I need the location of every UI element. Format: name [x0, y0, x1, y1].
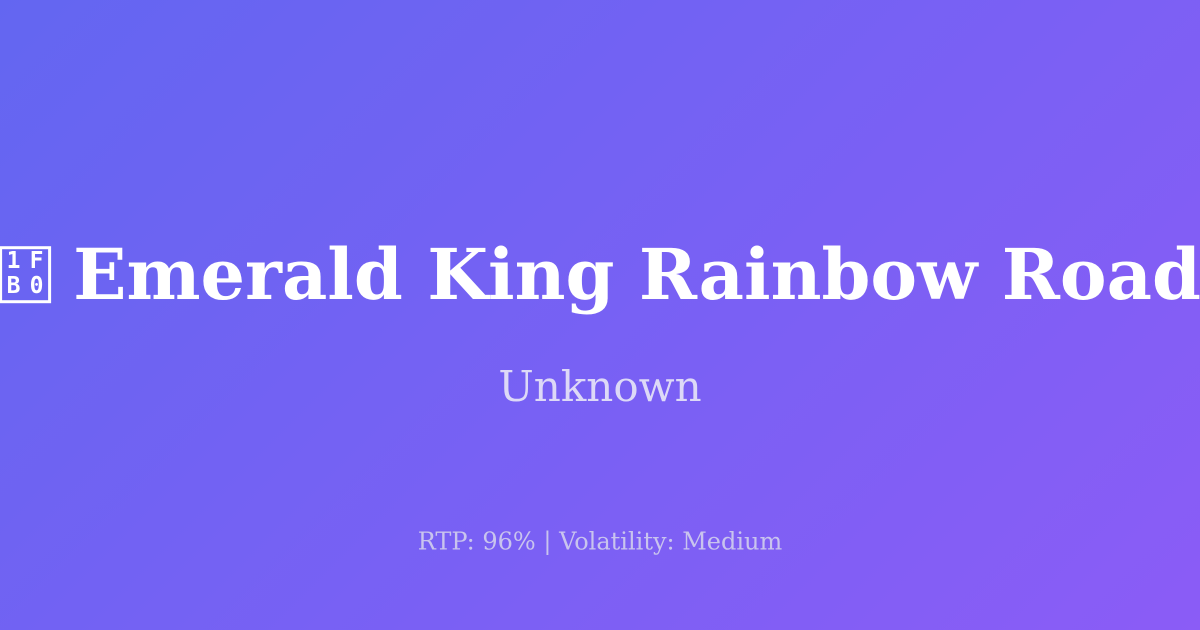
game-stats-line: RTP: 96% | Volatility: Medium: [418, 528, 783, 557]
tofu-hex-digit-2: F: [30, 250, 44, 273]
slot-machine-icon: 1 F B 0: [0, 247, 51, 304]
og-card: 1 F B 0 Emerald King Rainbow Road Unknow…: [0, 0, 1200, 630]
tofu-hex-digit-1: 1: [7, 250, 21, 273]
page-subtitle: Unknown: [498, 362, 701, 412]
title-row: 1 F B 0 Emerald King Rainbow Road: [0, 237, 1200, 313]
page-title: Emerald King Rainbow Road: [73, 237, 1200, 313]
tofu-hex-digit-4: 0: [30, 275, 44, 298]
tofu-hex-digit-3: B: [7, 275, 21, 298]
